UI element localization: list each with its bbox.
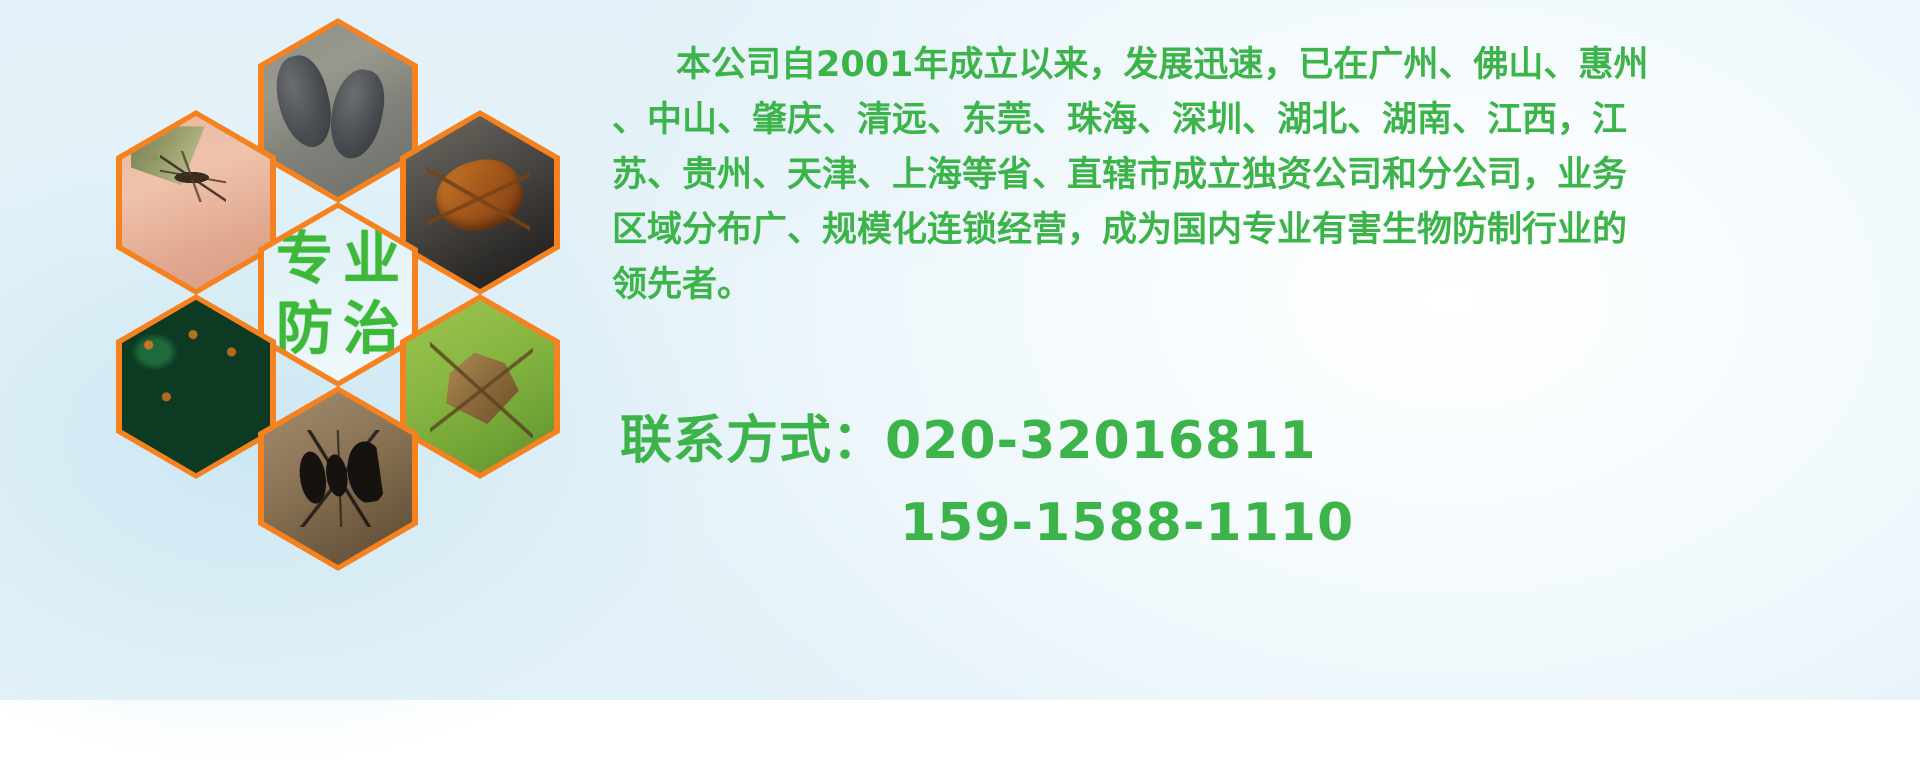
description-line-1: 本公司自2001年成立以来，发展迅速，已在广州、佛山、惠州 (612, 38, 1912, 93)
description-line-5: 领先者。 (612, 258, 1912, 313)
slogan-line-2: 防治 (266, 295, 410, 365)
company-description: 本公司自2001年成立以来，发展迅速，已在广州、佛山、惠州 、中山、肇庆、清远、… (612, 38, 1912, 313)
contact-phone-secondary[interactable]: 159-1588-1110 (620, 482, 1354, 564)
rat-photo[interactable] (258, 18, 418, 203)
mosquito-photo[interactable] (116, 110, 276, 295)
contact-block: 联系方式：020-32016811 159-1588-1110 (620, 400, 1354, 564)
description-line-4: 区域分布广、规模化连锁经营，成为国内专业有害生物防制行业的 (612, 203, 1912, 258)
slogan-line-1: 专业 (266, 225, 410, 295)
description-line-3: 苏、贵州、天津、上海等省、直辖市成立独资公司和分公司，业务 (612, 148, 1912, 203)
hexagon-photo-cluster: 专业 防治 (78, 0, 598, 580)
cockroach-photo[interactable] (400, 110, 560, 295)
description-line-2: 、中山、肇庆、清远、东莞、珠海、深圳、湖北、湖南、江西，江 (612, 93, 1912, 148)
fly-photo[interactable] (116, 294, 276, 479)
ant-photo[interactable] (258, 386, 418, 571)
contact-phone-primary[interactable]: 联系方式：020-32016811 (620, 400, 1354, 482)
stinkbug-photo[interactable] (400, 294, 560, 479)
promo-banner: 专业 防治 本公司自2001年成立以来，发展迅速，已在 (0, 0, 1920, 700)
slogan-inner: 专业 防治 (264, 208, 412, 381)
slogan-hexagon: 专业 防治 (258, 202, 418, 387)
